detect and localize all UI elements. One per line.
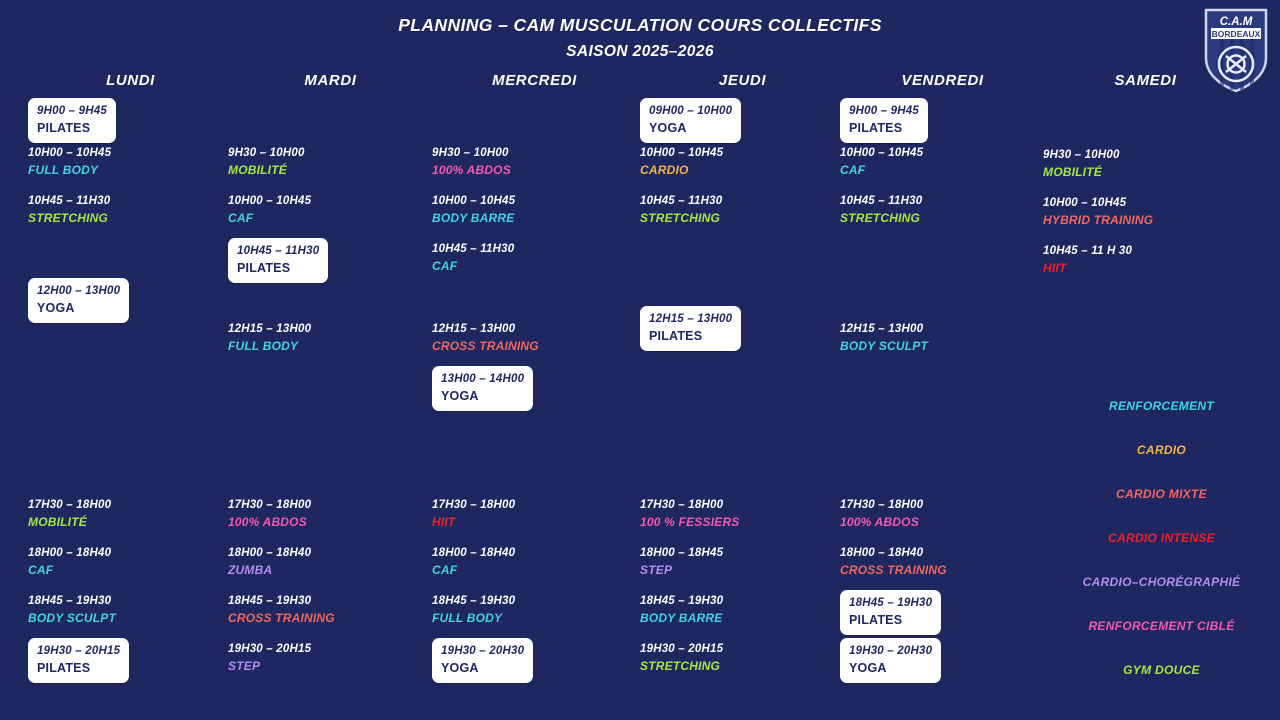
course-entry[interactable]: 19H30 – 20H15STEP xyxy=(228,642,433,674)
day-slots: 9H30 – 10H00100% ABDOS10H00 – 10H45BODY … xyxy=(432,98,637,698)
page-subtitle: SAISON 2025–2026 xyxy=(0,43,1280,61)
day-header: MARDI xyxy=(228,72,433,98)
course-slot: 13H00 – 14H00YOGA xyxy=(432,366,637,411)
poster-header: PLANNING – CAM MUSCULATION COURS COLLECT… xyxy=(0,14,1280,61)
course-entry-boxed[interactable]: 13H00 – 14H00YOGA xyxy=(432,366,533,411)
course-slot: 18H00 – 18H45STEP xyxy=(640,546,845,578)
course-entry[interactable]: 17H30 – 18H00100 % FESSIERS xyxy=(640,498,845,530)
course-slot: 10H45 – 11H30CAF xyxy=(432,242,637,274)
course-name: STRETCHING xyxy=(28,210,233,226)
course-name: STRETCHING xyxy=(840,210,1045,226)
course-entry[interactable]: 17H30 – 18H00HIIT xyxy=(432,498,637,530)
course-name: PILATES xyxy=(849,612,932,629)
course-time: 9H30 – 10H00 xyxy=(432,146,637,162)
course-entry-boxed[interactable]: 09H00 – 10H00YOGA xyxy=(640,98,741,143)
course-time: 10H00 – 10H45 xyxy=(432,194,637,210)
course-name: CROSS TRAINING xyxy=(840,562,1045,578)
course-name: CROSS TRAINING xyxy=(228,610,433,626)
course-time: 17H30 – 18H00 xyxy=(28,498,233,514)
course-name: YOGA xyxy=(649,120,732,137)
day-column-jeudi: JEUDI09H00 – 10H00YOGA10H00 – 10H45CARDI… xyxy=(640,72,845,698)
course-entry-boxed[interactable]: 19H30 – 20H30YOGA xyxy=(840,638,941,683)
course-entry-boxed[interactable]: 18H45 – 19H30PILATES xyxy=(840,590,941,635)
course-slot: 19H30 – 20H15STRETCHING xyxy=(640,642,845,674)
course-slot: 18H00 – 18H40CAF xyxy=(432,546,637,578)
course-slot: 19H30 – 20H30YOGA xyxy=(840,638,1045,683)
course-time: 18H00 – 18H40 xyxy=(432,546,637,562)
course-time: 10H00 – 10H45 xyxy=(1043,196,1248,212)
course-entry-boxed[interactable]: 12H00 – 13H00YOGA xyxy=(28,278,129,323)
course-slot: 19H30 – 20H30YOGA xyxy=(432,638,637,683)
course-name: CROSS TRAINING xyxy=(432,338,637,354)
course-time: 18H45 – 19H30 xyxy=(228,594,433,610)
course-entry[interactable]: 12H15 – 13H00FULL BODY xyxy=(228,322,433,354)
course-time: 10H45 – 11H30 xyxy=(840,194,1045,210)
logo-city-name: BORDEAUX xyxy=(1212,29,1261,39)
course-time: 18H00 – 18H40 xyxy=(28,546,233,562)
course-name: MOBILITÉ xyxy=(28,514,233,530)
day-header: SAMEDI xyxy=(1043,72,1248,98)
course-time: 18H45 – 19H30 xyxy=(28,594,233,610)
logo-club-initials: C.A.M xyxy=(1220,16,1253,28)
course-slot: 10H00 – 10H45CAF xyxy=(228,194,433,226)
course-slot: 17H30 – 18H00HIIT xyxy=(432,498,637,530)
course-entry-boxed[interactable]: 9H00 – 9H45PILATES xyxy=(840,98,928,143)
course-time: 18H00 – 18H40 xyxy=(228,546,433,562)
course-time: 9H00 – 9H45 xyxy=(849,104,919,120)
course-time: 18H00 – 18H40 xyxy=(840,546,1045,562)
course-name: PILATES xyxy=(37,120,107,137)
legend-item: CARDIO xyxy=(1043,439,1280,483)
course-entry[interactable]: 18H45 – 19H30CROSS TRAINING xyxy=(228,594,433,626)
day-column-mercredi: MERCREDI9H30 – 10H00100% ABDOS10H00 – 10… xyxy=(432,72,637,698)
course-time: 17H30 – 18H00 xyxy=(228,498,433,514)
course-slot: 9H30 – 10H00MOBILITÉ xyxy=(228,146,433,178)
course-name: PILATES xyxy=(237,260,319,277)
course-name: BODY SCULPT xyxy=(28,610,233,626)
day-slots: 9H00 – 9H45PILATES10H00 – 10H45FULL BODY… xyxy=(28,98,233,698)
course-entry-boxed[interactable]: 19H30 – 20H30YOGA xyxy=(432,638,533,683)
course-time: 10H00 – 10H45 xyxy=(640,146,845,162)
course-slot: 10H00 – 10H45CARDIO xyxy=(640,146,845,178)
course-entry[interactable]: 10H45 – 11H30STRETCHING xyxy=(840,194,1045,226)
course-name: PILATES xyxy=(849,120,919,137)
course-name: 100% ABDOS xyxy=(228,514,433,530)
course-slot: 12H15 – 13H00PILATES xyxy=(640,306,845,351)
course-slot: 18H45 – 19H30BODY BARRE xyxy=(640,594,845,626)
course-slot: 10H00 – 10H45BODY BARRE xyxy=(432,194,637,226)
course-slot: 9H30 – 10H00MOBILITÉ xyxy=(1043,148,1248,180)
course-entry[interactable]: 10H00 – 10H45CAF xyxy=(840,146,1045,178)
course-slot: 10H45 – 11H30PILATES xyxy=(228,238,433,283)
course-name: YOGA xyxy=(441,660,524,677)
course-name: 100% ABDOS xyxy=(432,162,637,178)
planning-poster: PLANNING – CAM MUSCULATION COURS COLLECT… xyxy=(0,0,1280,720)
course-name: HIIT xyxy=(432,514,637,530)
course-time: 10H00 – 10H45 xyxy=(28,146,233,162)
course-time: 9H00 – 9H45 xyxy=(37,104,107,120)
legend-item: CARDIO MIXTE xyxy=(1043,483,1280,527)
day-header: JEUDI xyxy=(640,72,845,98)
course-time: 12H15 – 13H00 xyxy=(432,322,637,338)
course-name: MOBILITÉ xyxy=(1043,164,1248,180)
course-entry[interactable]: 9H30 – 10H00MOBILITÉ xyxy=(228,146,433,178)
course-time: 9H30 – 10H00 xyxy=(228,146,433,162)
course-entry[interactable]: 12H15 – 13H00CROSS TRAINING xyxy=(432,322,637,354)
course-entry[interactable]: 18H45 – 19H30BODY BARRE xyxy=(640,594,845,626)
course-name: PILATES xyxy=(37,660,120,677)
course-slot: 18H45 – 19H30CROSS TRAINING xyxy=(228,594,433,626)
legend-item: RENFORCEMENT CIBLÉ xyxy=(1043,615,1280,659)
course-time: 18H45 – 19H30 xyxy=(640,594,845,610)
day-slots: 9H00 – 9H45PILATES10H00 – 10H45CAF10H45 … xyxy=(840,98,1045,698)
course-entry[interactable]: 10H00 – 10H45CAF xyxy=(228,194,433,226)
course-entry[interactable]: 9H30 – 10H00MOBILITÉ xyxy=(1043,148,1248,180)
course-entry[interactable]: 18H45 – 19H30FULL BODY xyxy=(432,594,637,626)
course-time: 19H30 – 20H30 xyxy=(441,644,524,660)
course-entry[interactable]: 18H00 – 18H45STEP xyxy=(640,546,845,578)
course-name: CARDIO xyxy=(640,162,845,178)
day-slots: 09H00 – 10H00YOGA10H00 – 10H45CARDIO10H4… xyxy=(640,98,845,698)
course-slot: 17H30 – 18H00100 % FESSIERS xyxy=(640,498,845,530)
course-slot: 12H15 – 13H00BODY SCULPT xyxy=(840,322,1045,354)
course-slot: 19H30 – 20H15STEP xyxy=(228,642,433,674)
course-entry[interactable]: 18H00 – 18H40ZUMBA xyxy=(228,546,433,578)
course-name: CAF xyxy=(432,258,637,274)
course-time: 18H00 – 18H45 xyxy=(640,546,845,562)
course-time: 19H30 – 20H30 xyxy=(849,644,932,660)
course-entry[interactable]: 18H45 – 19H30BODY SCULPT xyxy=(28,594,233,626)
course-time: 17H30 – 18H00 xyxy=(640,498,845,514)
course-slot: 9H00 – 9H45PILATES xyxy=(28,98,233,143)
course-slot: 19H30 – 20H15PILATES xyxy=(28,638,233,683)
course-entry[interactable]: 10H45 – 11 H 30HIIT xyxy=(1043,244,1248,276)
course-slot: 17H30 – 18H00100% ABDOS xyxy=(840,498,1045,530)
course-time: 13H00 – 14H00 xyxy=(441,372,524,388)
course-time: 09H00 – 10H00 xyxy=(649,104,732,120)
course-time: 18H45 – 19H30 xyxy=(849,596,932,612)
course-name: STEP xyxy=(228,658,433,674)
course-slot: 9H00 – 9H45PILATES xyxy=(840,98,1045,143)
course-slot: 9H30 – 10H00100% ABDOS xyxy=(432,146,637,178)
course-entry-boxed[interactable]: 19H30 – 20H15PILATES xyxy=(28,638,129,683)
course-entry[interactable]: 10H00 – 10H45CARDIO xyxy=(640,146,845,178)
day-column-lundi: LUNDI9H00 – 9H45PILATES10H00 – 10H45FULL… xyxy=(28,72,233,698)
course-slot: 18H45 – 19H30BODY SCULPT xyxy=(28,594,233,626)
course-entry[interactable]: 19H30 – 20H15STRETCHING xyxy=(640,642,845,674)
course-entry[interactable]: 17H30 – 18H00100% ABDOS xyxy=(840,498,1045,530)
course-entry[interactable]: 10H45 – 11H30CAF xyxy=(432,242,637,274)
course-name: CAF xyxy=(432,562,637,578)
course-slot: 18H00 – 18H40ZUMBA xyxy=(228,546,433,578)
course-name: MOBILITÉ xyxy=(228,162,433,178)
course-slot: 09H00 – 10H00YOGA xyxy=(640,98,845,143)
course-time: 12H15 – 13H00 xyxy=(228,322,433,338)
course-time: 10H45 – 11 H 30 xyxy=(1043,244,1248,260)
day-column-vendredi: VENDREDI9H00 – 9H45PILATES10H00 – 10H45C… xyxy=(840,72,1045,698)
course-name: BODY BARRE xyxy=(432,210,637,226)
course-entry[interactable]: 10H00 – 10H45FULL BODY xyxy=(28,146,233,178)
course-slot: 10H00 – 10H45HYBRID TRAINING xyxy=(1043,196,1248,228)
course-time: 19H30 – 20H15 xyxy=(37,644,120,660)
course-time: 12H00 – 13H00 xyxy=(37,284,120,300)
course-name: 100% ABDOS xyxy=(840,514,1045,530)
course-slot: 10H45 – 11H30STRETCHING xyxy=(28,194,233,226)
course-entry[interactable]: 18H00 – 18H40CAF xyxy=(432,546,637,578)
course-entry[interactable]: 17H30 – 18H00100% ABDOS xyxy=(228,498,433,530)
course-name: 100 % FESSIERS xyxy=(640,514,845,530)
course-name: FULL BODY xyxy=(28,162,233,178)
course-time: 19H30 – 20H15 xyxy=(228,642,433,658)
course-entry-boxed[interactable]: 10H45 – 11H30PILATES xyxy=(228,238,328,283)
course-slot: 18H45 – 19H30PILATES xyxy=(840,590,1045,635)
course-name: HYBRID TRAINING xyxy=(1043,212,1248,228)
course-name: ZUMBA xyxy=(228,562,433,578)
course-name: CAF xyxy=(840,162,1045,178)
page-title: PLANNING – CAM MUSCULATION COURS COLLECT… xyxy=(0,14,1280,38)
course-slot: 12H15 – 13H00CROSS TRAINING xyxy=(432,322,637,354)
course-entry[interactable]: 10H45 – 11H30STRETCHING xyxy=(640,194,845,226)
course-entry-boxed[interactable]: 12H15 – 13H00PILATES xyxy=(640,306,741,351)
course-time: 9H30 – 10H00 xyxy=(1043,148,1248,164)
course-time: 10H45 – 11H30 xyxy=(640,194,845,210)
course-time: 17H30 – 18H00 xyxy=(432,498,637,514)
course-slot: 10H45 – 11H30STRETCHING xyxy=(840,194,1045,226)
course-slot: 10H45 – 11 H 30HIIT xyxy=(1043,244,1248,276)
day-header: VENDREDI xyxy=(840,72,1045,98)
course-name: STEP xyxy=(640,562,845,578)
course-slot: 10H00 – 10H45CAF xyxy=(840,146,1045,178)
course-entry-boxed[interactable]: 9H00 – 9H45PILATES xyxy=(28,98,116,143)
course-time: 10H45 – 11H30 xyxy=(432,242,637,258)
course-time: 10H00 – 10H45 xyxy=(228,194,433,210)
course-slot: 12H15 – 13H00FULL BODY xyxy=(228,322,433,354)
course-entry[interactable]: 10H00 – 10H45BODY BARRE xyxy=(432,194,637,226)
course-entry[interactable]: 10H00 – 10H45HYBRID TRAINING xyxy=(1043,196,1248,228)
course-time: 12H15 – 13H00 xyxy=(649,312,732,328)
course-entry[interactable]: 12H15 – 13H00BODY SCULPT xyxy=(840,322,1045,354)
course-name: FULL BODY xyxy=(228,338,433,354)
course-name: CAF xyxy=(228,210,433,226)
course-slot: 17H30 – 18H00100% ABDOS xyxy=(228,498,433,530)
course-entry[interactable]: 18H00 – 18H40CROSS TRAINING xyxy=(840,546,1045,578)
course-slot: 18H45 – 19H30FULL BODY xyxy=(432,594,637,626)
day-column-mardi: MARDI9H30 – 10H00MOBILITÉ10H00 – 10H45CA… xyxy=(228,72,433,698)
course-time: 10H45 – 11H30 xyxy=(28,194,233,210)
course-time: 12H15 – 13H00 xyxy=(840,322,1045,338)
legend: RENFORCEMENTCARDIOCARDIO MIXTECARDIO INT… xyxy=(1043,395,1280,703)
course-entry[interactable]: 10H45 – 11H30STRETCHING xyxy=(28,194,233,226)
course-slot: 18H00 – 18H40CROSS TRAINING xyxy=(840,546,1045,578)
legend-item: GYM DOUCE xyxy=(1043,659,1280,703)
course-slot: 18H00 – 18H40CAF xyxy=(28,546,233,578)
course-entry[interactable]: 9H30 – 10H00100% ABDOS xyxy=(432,146,637,178)
legend-item: RENFORCEMENT xyxy=(1043,395,1280,439)
course-name: CAF xyxy=(28,562,233,578)
course-slot: 10H45 – 11H30STRETCHING xyxy=(640,194,845,226)
course-name: YOGA xyxy=(37,300,120,317)
day-slots: 9H30 – 10H00MOBILITÉ10H00 – 10H45CAF10H4… xyxy=(228,98,433,698)
course-name: HIIT xyxy=(1043,260,1248,276)
course-name: YOGA xyxy=(849,660,932,677)
legend-item: CARDIO INTENSE xyxy=(1043,527,1280,571)
course-entry[interactable]: 18H00 – 18H40CAF xyxy=(28,546,233,578)
course-time: 10H45 – 11H30 xyxy=(237,244,319,260)
day-header: LUNDI xyxy=(28,72,233,98)
course-slot: 12H00 – 13H00YOGA xyxy=(28,278,233,323)
course-slot: 10H00 – 10H45FULL BODY xyxy=(28,146,233,178)
course-name: PILATES xyxy=(649,328,732,345)
course-name: BODY SCULPT xyxy=(840,338,1045,354)
course-name: BODY BARRE xyxy=(640,610,845,626)
course-time: 17H30 – 18H00 xyxy=(840,498,1045,514)
course-time: 18H45 – 19H30 xyxy=(432,594,637,610)
course-time: 10H00 – 10H45 xyxy=(840,146,1045,162)
day-header: MERCREDI xyxy=(432,72,637,98)
course-name: STRETCHING xyxy=(640,210,845,226)
course-entry[interactable]: 17H30 – 18H00MOBILITÉ xyxy=(28,498,233,530)
course-slot: 17H30 – 18H00MOBILITÉ xyxy=(28,498,233,530)
legend-item: CARDIO–CHORÉGRAPHIÉ xyxy=(1043,571,1280,615)
course-name: FULL BODY xyxy=(432,610,637,626)
course-name: YOGA xyxy=(441,388,524,405)
course-time: 19H30 – 20H15 xyxy=(640,642,845,658)
course-name: STRETCHING xyxy=(640,658,845,674)
